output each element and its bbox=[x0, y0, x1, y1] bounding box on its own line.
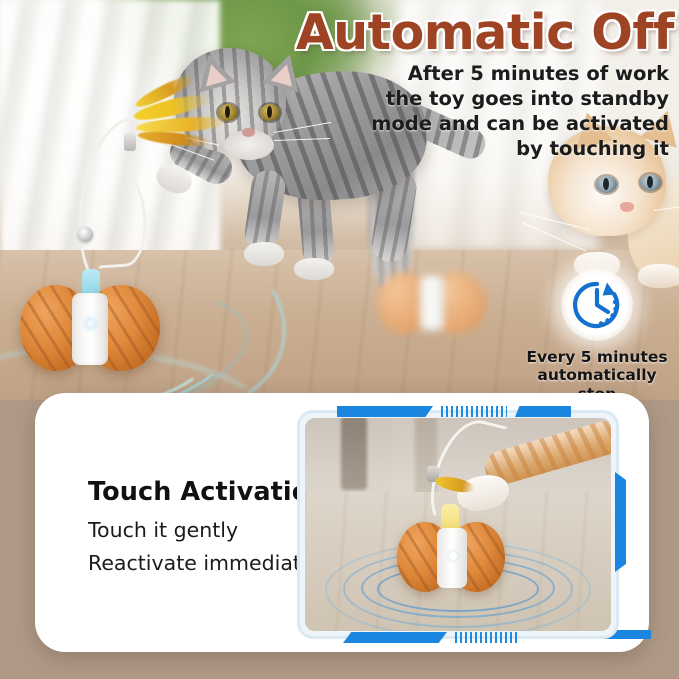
cat-paw-2 bbox=[244, 242, 284, 266]
clock-badge bbox=[561, 269, 633, 341]
ginger-cat-eye-left bbox=[596, 176, 617, 193]
bell-icon bbox=[78, 227, 93, 242]
hero-scene: Automatic Off After 5 minutes of work th… bbox=[0, 0, 679, 400]
inset-photo bbox=[305, 418, 611, 631]
toy-led-indicator bbox=[449, 552, 457, 560]
subheadline-line-3: mode and can be activated bbox=[269, 112, 669, 137]
clock-caption-line-1: Every 5 minutes bbox=[524, 348, 670, 366]
toy-wand-socket bbox=[82, 269, 100, 295]
frame-accent-bar-top-right bbox=[515, 406, 571, 417]
product-infographic: Automatic Off After 5 minutes of work th… bbox=[0, 0, 679, 679]
cat-ear-left bbox=[190, 49, 236, 92]
frame-tick-marks-top bbox=[441, 406, 507, 417]
toy-wand-socket bbox=[441, 504, 459, 530]
ginger-cat-paw-right bbox=[638, 264, 679, 288]
ginger-cat-eye-right bbox=[640, 174, 661, 191]
toy-center-band bbox=[72, 293, 108, 365]
table-leg bbox=[391, 418, 415, 502]
card-line-1: Touch it gently bbox=[88, 518, 238, 542]
table-leg bbox=[341, 418, 367, 490]
ginger-cat-nose bbox=[620, 202, 634, 212]
frame-accent-bar-top-left bbox=[337, 406, 433, 417]
subheadline-line-1: After 5 minutes of work bbox=[269, 62, 669, 87]
cat-toy-main bbox=[20, 285, 170, 377]
toy-led-indicator bbox=[86, 319, 95, 328]
clock-rotate-icon bbox=[570, 278, 624, 332]
frame-tick-marks-bottom bbox=[455, 632, 519, 643]
whisker bbox=[520, 212, 590, 230]
toy-center-band bbox=[420, 276, 444, 330]
cat-leg-front-right bbox=[243, 168, 288, 252]
inset-photo-frame bbox=[297, 410, 619, 639]
frame-accent-bar-bottom-left bbox=[343, 632, 447, 643]
subheadline-line-2: the toy goes into standby bbox=[269, 87, 669, 112]
page-title: Automatic Off bbox=[296, 8, 674, 57]
touch-activation-card: Touch Activation Touch it gently Reactiv… bbox=[35, 393, 649, 652]
cat-nose bbox=[242, 128, 255, 137]
cat-paw-3 bbox=[294, 258, 334, 280]
feather-clip bbox=[124, 133, 136, 151]
subheadline-line-4: by touching it bbox=[269, 137, 669, 162]
card-title: Touch Activation bbox=[88, 477, 328, 507]
subheadline: After 5 minutes of work the toy goes int… bbox=[269, 62, 669, 162]
cat-toy-inset bbox=[397, 522, 503, 594]
secondary-toy-blurred bbox=[378, 272, 488, 336]
frame-accent-bar-right bbox=[615, 472, 626, 572]
card-line-2: Reactivate immediately bbox=[88, 551, 331, 575]
